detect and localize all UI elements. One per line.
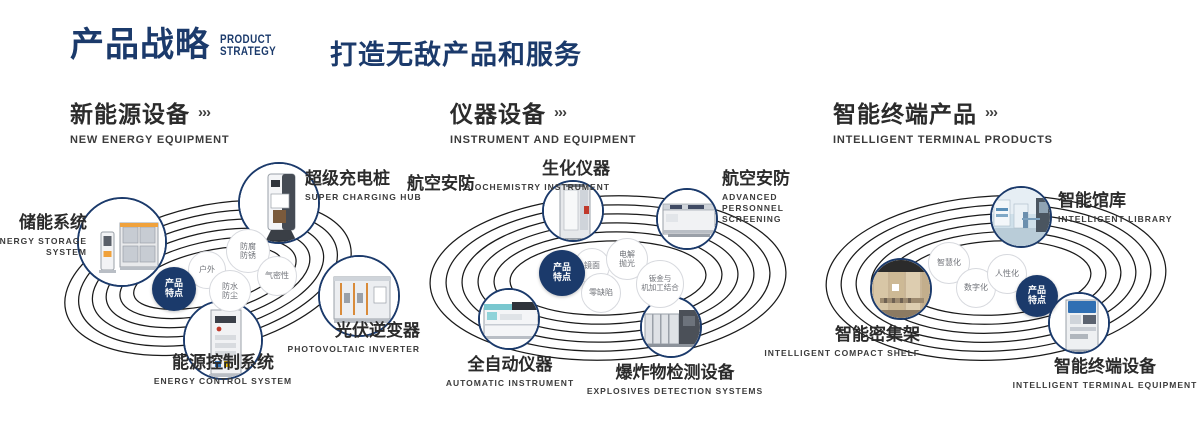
label-aviation-security: 航空安防	[320, 175, 475, 195]
section-title-intelligent-terminal: 智能终端产品››› INTELLIGENT TERMINAL PRODUCTS	[833, 95, 1053, 146]
core-label-line2: 特点	[165, 289, 183, 299]
feature-label: 电解 抛光	[619, 250, 635, 268]
core-label-line1: 产品	[553, 263, 571, 273]
node-advanced-personnel-screening[interactable]	[656, 188, 718, 250]
chevron-right-icon: ›››	[985, 104, 997, 121]
advanced-personnel-screening-photo	[658, 190, 716, 248]
feature-label: 零缺陷	[589, 288, 613, 297]
section-title-new-energy: 新能源设备››› NEW ENERGY EQUIPMENT	[70, 95, 229, 146]
section-title-instrument: 仪器设备››› INSTRUMENT AND EQUIPMENT	[450, 95, 636, 146]
feature-label: 数字化	[964, 283, 988, 292]
feature-label: 镜面	[584, 261, 600, 270]
label-intelligent-compact-shelf: 智能密集架 INTELLIGENT COMPACT SHELF	[740, 326, 920, 359]
label-energy-storage-system: 储能系统 ENERGY STORAGE SYSTEM	[0, 214, 87, 258]
label-cn: 能源控制系统	[83, 354, 363, 374]
feature-label: 人性化	[995, 269, 1019, 278]
intelligent-compact-shelf-photo	[872, 260, 930, 318]
node-intelligent-library[interactable]	[990, 186, 1052, 248]
label-intelligent-terminal-equipment: 智能终端设备 INTELLIGENT TERMINAL EQUIPMENT	[990, 358, 1200, 391]
label-intelligent-library: 智能馆库 INTELLIGENT LIBRARY	[1058, 192, 1173, 225]
label-cn: 智能终端设备	[990, 358, 1200, 378]
feature-label: 气密性	[265, 271, 289, 280]
label-cn: 储能系统	[0, 214, 87, 234]
feature-bubble: 零缺陷	[581, 273, 621, 313]
cluster-intelligent-terminal: 智能馆库 INTELLIGENT LIBRARY	[800, 150, 1200, 400]
label-cn: 生化仪器	[460, 160, 610, 180]
core-label-line1: 产品	[165, 279, 183, 289]
feature-label: 智慧化	[937, 258, 961, 267]
label-biochemistry-instrument: 生化仪器 BIOCHEMISTRY INSTRUMENT	[460, 160, 610, 193]
feature-label: 防水 防尘	[222, 282, 238, 300]
label-en: EXPLOSIVES DETECTION SYSTEMS	[555, 386, 795, 397]
label-en: ENERGY STORAGE SYSTEM	[0, 236, 87, 258]
label-en: INTELLIGENT COMPACT SHELF	[740, 348, 920, 359]
core-label-line1: 产品	[1028, 286, 1046, 296]
feature-bubble: 防水 防尘	[209, 270, 251, 312]
intelligent-terminal-equipment-photo	[1050, 294, 1108, 352]
feature-label: 户外	[199, 265, 215, 274]
chevron-right-icon: ›››	[198, 104, 210, 121]
page-title-en-line2: STRATEGY	[220, 45, 276, 57]
page-title-en: PRODUCT STRATEGY	[220, 33, 276, 57]
feature-bubble: 气密性	[257, 256, 297, 296]
section-title-cn: 仪器设备	[450, 95, 546, 129]
label-cn: 智能馆库	[1058, 192, 1173, 212]
feature-label: 钣金与 机加工结合	[641, 275, 679, 292]
section-title-cn: 智能终端产品	[833, 95, 977, 129]
label-en: BIOCHEMISTRY INSTRUMENT	[460, 182, 610, 193]
section-title-en: INSTRUMENT AND EQUIPMENT	[450, 134, 636, 146]
section-title-cn: 新能源设备	[70, 95, 190, 129]
page-title: 产品战略 PRODUCT STRATEGY	[70, 28, 288, 62]
label-energy-control-system: 能源控制系统 ENERGY CONTROL SYSTEM	[83, 354, 363, 387]
label-en: INTELLIGENT LIBRARY	[1058, 214, 1173, 225]
node-energy-storage-system[interactable]	[77, 197, 167, 287]
core-badge-product-features: 产品 特点	[539, 250, 585, 296]
node-intelligent-compact-shelf[interactable]	[870, 258, 932, 320]
label-cn: 智能密集架	[740, 326, 920, 346]
label-cn: 航空安防	[320, 175, 475, 195]
core-label-line2: 特点	[1028, 296, 1046, 306]
intelligent-library-photo	[992, 188, 1050, 246]
section-title-en: NEW ENERGY EQUIPMENT	[70, 134, 229, 146]
core-badge-product-features: 产品 特点	[1016, 275, 1058, 317]
label-cn: 爆炸物检测设备	[555, 364, 795, 384]
node-automatic-instrument[interactable]	[478, 288, 540, 350]
cluster-instrument: 生化仪器 BIOCHEMISTRY INSTRUMENT 航空安防	[400, 150, 820, 400]
automatic-instrument-photo	[480, 290, 538, 348]
page-title-cn: 产品战略	[70, 28, 210, 62]
label-en: ENERGY CONTROL SYSTEM	[83, 376, 363, 387]
feature-label: 防腐 防锈	[240, 242, 256, 260]
core-badge-product-features: 产品 特点	[152, 267, 196, 311]
infographic-canvas: 产品战略 PRODUCT STRATEGY 打造无敌产品和服务 新能源设备›››…	[0, 0, 1200, 422]
feature-bubble: 钣金与 机加工结合	[636, 260, 684, 308]
page-subtitle: 打造无敌产品和服务	[330, 33, 582, 72]
energy-storage-system-photo	[79, 199, 165, 285]
core-label-line2: 特点	[553, 273, 571, 283]
label-explosives-detection-systems: 爆炸物检测设备 EXPLOSIVES DETECTION SYSTEMS	[555, 364, 795, 397]
explosives-detection-systems-photo	[642, 298, 700, 356]
section-title-en: INTELLIGENT TERMINAL PRODUCTS	[833, 134, 1053, 146]
label-en: INTELLIGENT TERMINAL EQUIPMENT	[990, 380, 1200, 391]
chevron-right-icon: ›››	[554, 104, 566, 121]
